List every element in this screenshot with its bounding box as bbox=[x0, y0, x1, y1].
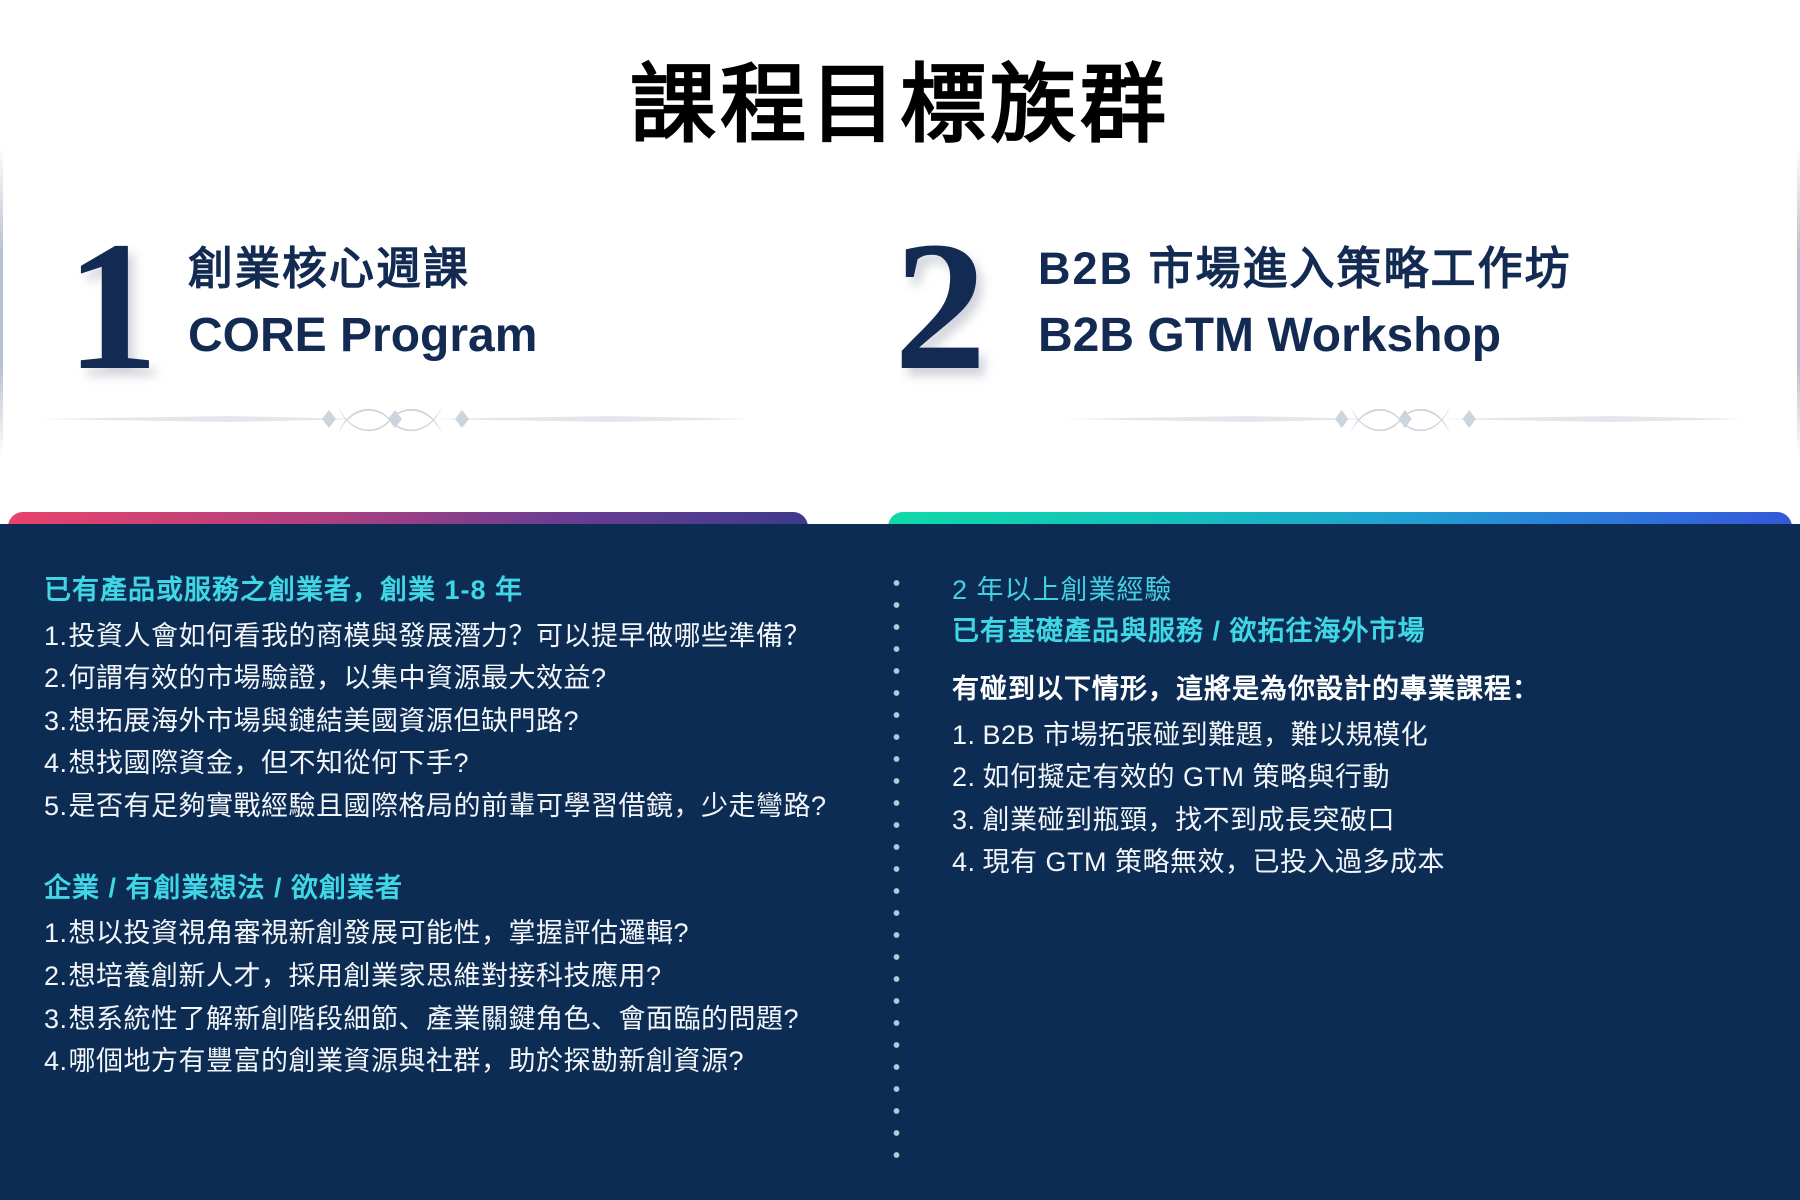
list-item: 1.投資人會如何看我的商模與發展潛力？可以提早做哪些準備？ bbox=[44, 615, 896, 658]
item-text: 想找國際資金，但不知從何下手? bbox=[69, 748, 470, 778]
ornament-divider-icon-1 bbox=[30, 400, 760, 438]
item-text: 何謂有效的市場驗證，以集中資源最大效益? bbox=[69, 663, 607, 693]
audience-group-2: 企業 / 有創業想法 / 欲創業者 1.想以投資視角審視新創發展可能性，掌握評估… bbox=[44, 868, 896, 1083]
right-sub-heading: 有碰到以下情形，這將是為你設計的專業課程： bbox=[952, 669, 1742, 710]
item-number: 1. bbox=[44, 615, 68, 658]
right-heading-experience: 2 年以上創業經驗 bbox=[952, 570, 1742, 611]
item-text: 現有 GTM 策略無效，已投入過多成本 bbox=[983, 847, 1446, 877]
list-item: 4.哪個地方有豐富的創業資源與社群，助於探勘新創資源? bbox=[44, 1040, 896, 1083]
item-number: 3. bbox=[44, 998, 68, 1041]
item-text: 想培養創新人才，採用創業家思維對接科技應用? bbox=[69, 961, 662, 991]
item-number: 2. bbox=[44, 657, 68, 700]
item-text: 想以投資視角審視新創發展可能性，掌握評估邏輯? bbox=[69, 918, 690, 948]
list-item: 3.想系統性了解新創階段細節、產業關鍵角色、會面臨的問題? bbox=[44, 998, 896, 1041]
list-item: 2.想培養創新人才，採用創業家思維對接科技應用? bbox=[44, 955, 896, 998]
item-number: 4. bbox=[44, 1040, 68, 1083]
group-heading-2: 企業 / 有創業想法 / 欲創業者 bbox=[44, 868, 896, 909]
item-text: 如何擬定有效的 GTM 策略與行動 bbox=[983, 762, 1391, 792]
item-text: 創業碰到瓶頸，找不到成長突破口 bbox=[983, 805, 1396, 835]
audience-group-1: 已有產品或服務之創業者，創業 1-8 年 1.投資人會如何看我的商模與發展潛力？… bbox=[44, 570, 896, 828]
question-list-1: 1.投資人會如何看我的商模與發展潛力？可以提早做哪些準備？ 2.何謂有效的市場驗… bbox=[44, 615, 896, 828]
item-number: 3. bbox=[44, 700, 68, 743]
program-name-zh-2: B2B 市場進入策略工作坊 bbox=[1038, 236, 1572, 301]
list-item: 3.創業碰到瓶頸，找不到成長突破口 bbox=[952, 799, 1742, 842]
left-edge-rule bbox=[0, 146, 3, 458]
list-item: 2.何謂有效的市場驗證，以集中資源最大效益? bbox=[44, 657, 896, 700]
list-item: 4.想找國際資金，但不知從何下手? bbox=[44, 742, 896, 785]
question-list-right: 1.B2B 市場拓張碰到難題，難以規模化 2.如何擬定有效的 GTM 策略與行動… bbox=[952, 714, 1742, 885]
list-item: 1.B2B 市場拓張碰到難題，難以規模化 bbox=[952, 714, 1742, 757]
item-text: 哪個地方有豐富的創業資源與社群，助於探勘新創資源? bbox=[69, 1046, 745, 1076]
audience-panel: 已有產品或服務之創業者，創業 1-8 年 1.投資人會如何看我的商模與發展潛力？… bbox=[0, 524, 1800, 1200]
question-list-2: 1.想以投資視角審視新創發展可能性，掌握評估邏輯? 2.想培養創新人才，採用創業… bbox=[44, 912, 896, 1083]
item-text: 想系統性了解新創階段細節、產業關鍵角色、會面臨的問題? bbox=[69, 1004, 800, 1034]
page-title: 課程目標族群 bbox=[0, 58, 1800, 153]
item-text: 投資人會如何看我的商模與發展潛力？可以提早做哪些準備？ bbox=[69, 621, 812, 651]
program-name-zh-1: 創業核心週課 bbox=[188, 236, 537, 301]
list-item: 1.想以投資視角審視新創發展可能性，掌握評估邏輯? bbox=[44, 912, 896, 955]
item-number: 4. bbox=[44, 742, 68, 785]
item-text: 想拓展海外市場與鏈結美國資源但缺門路? bbox=[69, 706, 580, 736]
item-number: 5. bbox=[44, 785, 68, 828]
item-number: 1. bbox=[44, 912, 68, 955]
program-name-en-1: CORE Program bbox=[188, 301, 537, 371]
list-item: 4.現有 GTM 策略無效，已投入過多成本 bbox=[952, 841, 1742, 884]
item-text: 是否有足夠實戰經驗且國際格局的前輩可學習借鏡，少走彎路? bbox=[69, 791, 827, 821]
list-item: 5.是否有足夠實戰經驗且國際格局的前輩可學習借鏡，少走彎路? bbox=[44, 785, 896, 828]
item-text: B2B 市場拓張碰到難題，難以規模化 bbox=[983, 720, 1429, 750]
program-number-2: 2 bbox=[888, 222, 1038, 392]
item-number: 2. bbox=[44, 955, 68, 998]
ornament-divider-icon-2 bbox=[1055, 400, 1755, 438]
item-number: 1. bbox=[952, 714, 976, 757]
program-name-en-2: B2B GTM Workshop bbox=[1038, 301, 1572, 371]
item-number: 3. bbox=[952, 799, 976, 842]
list-item: 3.想拓展海外市場與鏈結美國資源但缺門路? bbox=[44, 700, 896, 743]
list-item: 2.如何擬定有效的 GTM 策略與行動 bbox=[952, 756, 1742, 799]
item-number: 2. bbox=[952, 756, 976, 799]
group-spacer bbox=[44, 834, 896, 868]
item-number: 4. bbox=[952, 841, 976, 884]
right-spacer bbox=[952, 651, 1742, 669]
header-section: 課程目標族群 1 創業核心週課 CORE Program 2 B2B 市場進入策… bbox=[0, 0, 1800, 516]
program-number-1: 1 bbox=[60, 222, 188, 392]
right-heading-product: 已有基礎產品與服務 / 欲拓往海外市場 bbox=[952, 611, 1742, 652]
group-heading-1: 已有產品或服務之創業者，創業 1-8 年 bbox=[44, 570, 896, 611]
